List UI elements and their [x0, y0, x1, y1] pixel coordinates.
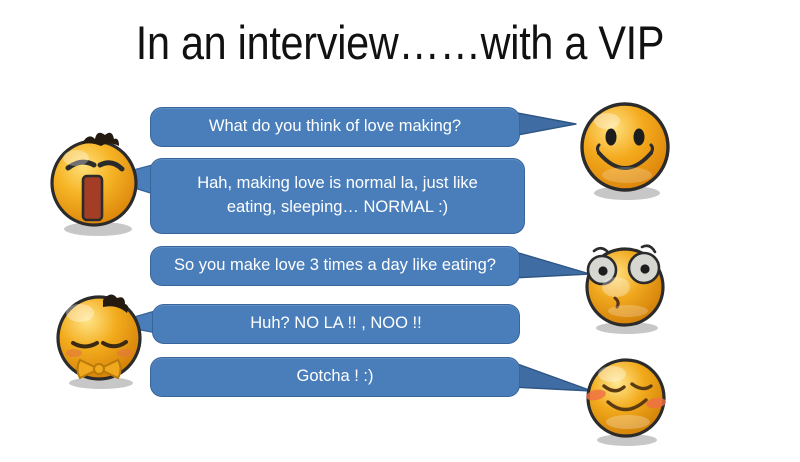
speech-bubble-3-text: So you make love 3 times a day like eati…	[165, 254, 505, 278]
face-highlight	[602, 277, 630, 297]
speech-bubble-1[interactable]: What do you think of love making?	[150, 107, 520, 147]
face-highlight	[598, 366, 626, 382]
speech-bubble-2[interactable]: Hah, making love is normal la, just like…	[150, 158, 525, 234]
shy-bowtie-face	[47, 285, 151, 395]
open-mouth-icon	[83, 176, 102, 220]
tail-right-bubble-1	[512, 112, 576, 136]
laughing-blushing-face	[572, 348, 676, 452]
pupil-left-icon	[598, 266, 607, 275]
face-lower-highlight	[608, 305, 648, 317]
speech-bubble-1-text: What do you think of love making?	[165, 115, 505, 139]
eyebrow-right-icon	[642, 246, 655, 252]
speech-bubble-2-text: Hah, making love is normal la, just like…	[173, 172, 502, 220]
eye-right-icon	[634, 129, 645, 146]
face-lower-highlight	[606, 415, 650, 429]
face-lower-highlight	[602, 167, 652, 183]
eye-left-icon	[606, 129, 617, 146]
shocked-shouting-face	[42, 128, 146, 240]
pupil-right-icon	[640, 264, 649, 273]
speech-bubble-4-text: Huh? NO LA !! , NOO !!	[167, 312, 505, 336]
speech-bubble-4[interactable]: Huh? NO LA !! , NOO !!	[152, 304, 520, 344]
speech-bubble-5[interactable]: Gotcha ! :)	[150, 357, 520, 397]
face-highlight	[66, 304, 94, 322]
eyebrow-left-icon	[594, 248, 608, 252]
surprised-bulging-eyes-face	[572, 235, 676, 339]
blush-right-icon	[117, 349, 133, 357]
blush-left-icon	[66, 349, 82, 357]
speech-bubble-5-text: Gotcha ! :)	[165, 365, 505, 389]
face-highlight	[594, 113, 620, 129]
cheek-line-left-icon	[598, 145, 600, 153]
face-highlight	[63, 150, 89, 166]
speech-bubble-3[interactable]: So you make love 3 times a day like eati…	[150, 246, 520, 286]
smiley-happy-face	[575, 95, 675, 203]
slide-canvas: In an interview……with a VIP What do you …	[0, 0, 800, 462]
cheek-line-right-icon	[651, 145, 653, 153]
